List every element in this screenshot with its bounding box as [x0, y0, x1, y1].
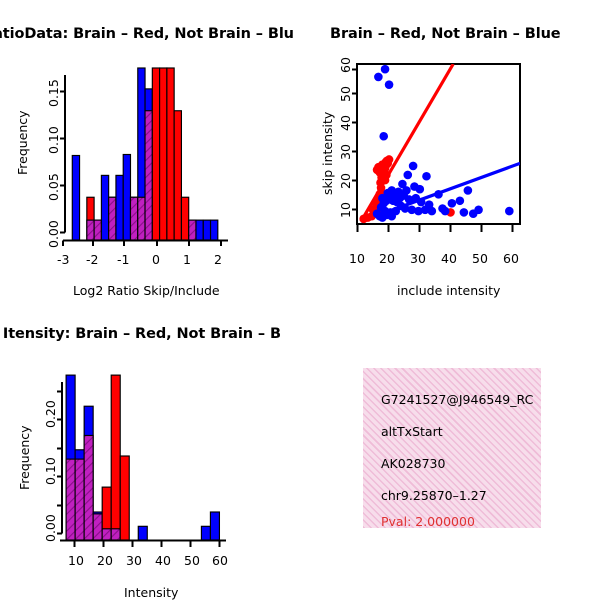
scatter-point — [409, 162, 418, 171]
scatter-point — [385, 80, 394, 89]
scatter-point — [425, 200, 434, 209]
info-line-gene-id: G7241527@J946549_RC — [381, 392, 533, 407]
scatter-point — [505, 207, 514, 216]
ratio-histogram-panel: RatioData: Brain – Red, Not Brain – Blu … — [0, 0, 300, 300]
scatter-point — [374, 163, 383, 172]
histogram-bar — [101, 175, 108, 240]
scatter-point — [417, 198, 426, 207]
scatter-point — [474, 206, 483, 215]
info-line-pval: Pval: 2.000000 — [381, 514, 475, 528]
intensity-histogram-panel: ne Itensity: Brain – Red, Not Brain – B … — [0, 300, 340, 600]
scatter-point — [416, 185, 425, 194]
histogram-bar — [116, 175, 123, 240]
scatter-svg — [300, 0, 600, 300]
histogram-bar-overlap — [111, 529, 120, 540]
scatter-point — [381, 176, 390, 185]
histogram-bar — [123, 154, 130, 240]
histogram-bar — [174, 111, 181, 240]
histogram-bar-overlap — [93, 514, 102, 540]
intensity-histogram-svg — [0, 300, 340, 600]
histogram-bar-overlap — [189, 220, 196, 240]
scatter-points — [359, 65, 513, 223]
histogram-bar-overlap — [138, 197, 145, 240]
histogram-bar — [111, 375, 120, 540]
scatter-point — [379, 132, 388, 141]
histogram-bar-overlap — [109, 197, 116, 240]
info-line-accession: AK028730 — [381, 456, 445, 471]
histogram-bar — [72, 155, 79, 240]
scatter-point — [383, 189, 392, 198]
histogram-bar-overlap — [94, 220, 101, 240]
ratio-bars — [72, 68, 218, 240]
scatter-point — [403, 171, 412, 180]
scatter-point — [456, 196, 465, 205]
scatter-point — [422, 172, 431, 181]
scatter-point — [460, 208, 469, 217]
info-line-event-type: altTxStart — [381, 424, 443, 439]
histogram-bar-overlap — [145, 111, 152, 240]
scatter-point — [438, 204, 447, 213]
scatter-point — [387, 212, 396, 221]
histogram-bar-overlap — [75, 459, 84, 540]
histogram-bar-overlap — [102, 529, 111, 540]
histogram-bar-overlap — [130, 197, 137, 240]
scatter-panel: Brain – Red, Not Brain – Blue skip inten… — [300, 0, 600, 300]
scatter-point — [385, 155, 394, 164]
histogram-bar — [120, 456, 129, 540]
histogram-bar — [181, 197, 188, 240]
histogram-bar-overlap — [66, 459, 75, 540]
info-line-locus: chr9.25870–1.27 — [381, 488, 487, 503]
histogram-bar-overlap — [84, 435, 93, 540]
histogram-bar — [138, 526, 147, 540]
histogram-bar — [167, 68, 174, 240]
histogram-bar — [211, 220, 218, 240]
histogram-bar-overlap — [87, 220, 94, 240]
scatter-point — [448, 199, 457, 208]
scatter-point — [464, 186, 473, 195]
feature-info-box: G7241527@J946549_RC altTxStart AK028730 … — [363, 368, 541, 528]
intensity-bars — [66, 375, 219, 540]
histogram-bar — [201, 526, 210, 540]
ratio-histogram-svg — [0, 0, 300, 300]
histogram-bar — [160, 68, 167, 240]
histogram-bar — [210, 512, 219, 540]
scatter-point — [374, 73, 383, 82]
histogram-bar — [203, 220, 210, 240]
scatter-point — [434, 190, 443, 199]
histogram-bar — [196, 220, 203, 240]
histogram-bar — [152, 68, 159, 240]
scatter-point — [381, 65, 390, 74]
